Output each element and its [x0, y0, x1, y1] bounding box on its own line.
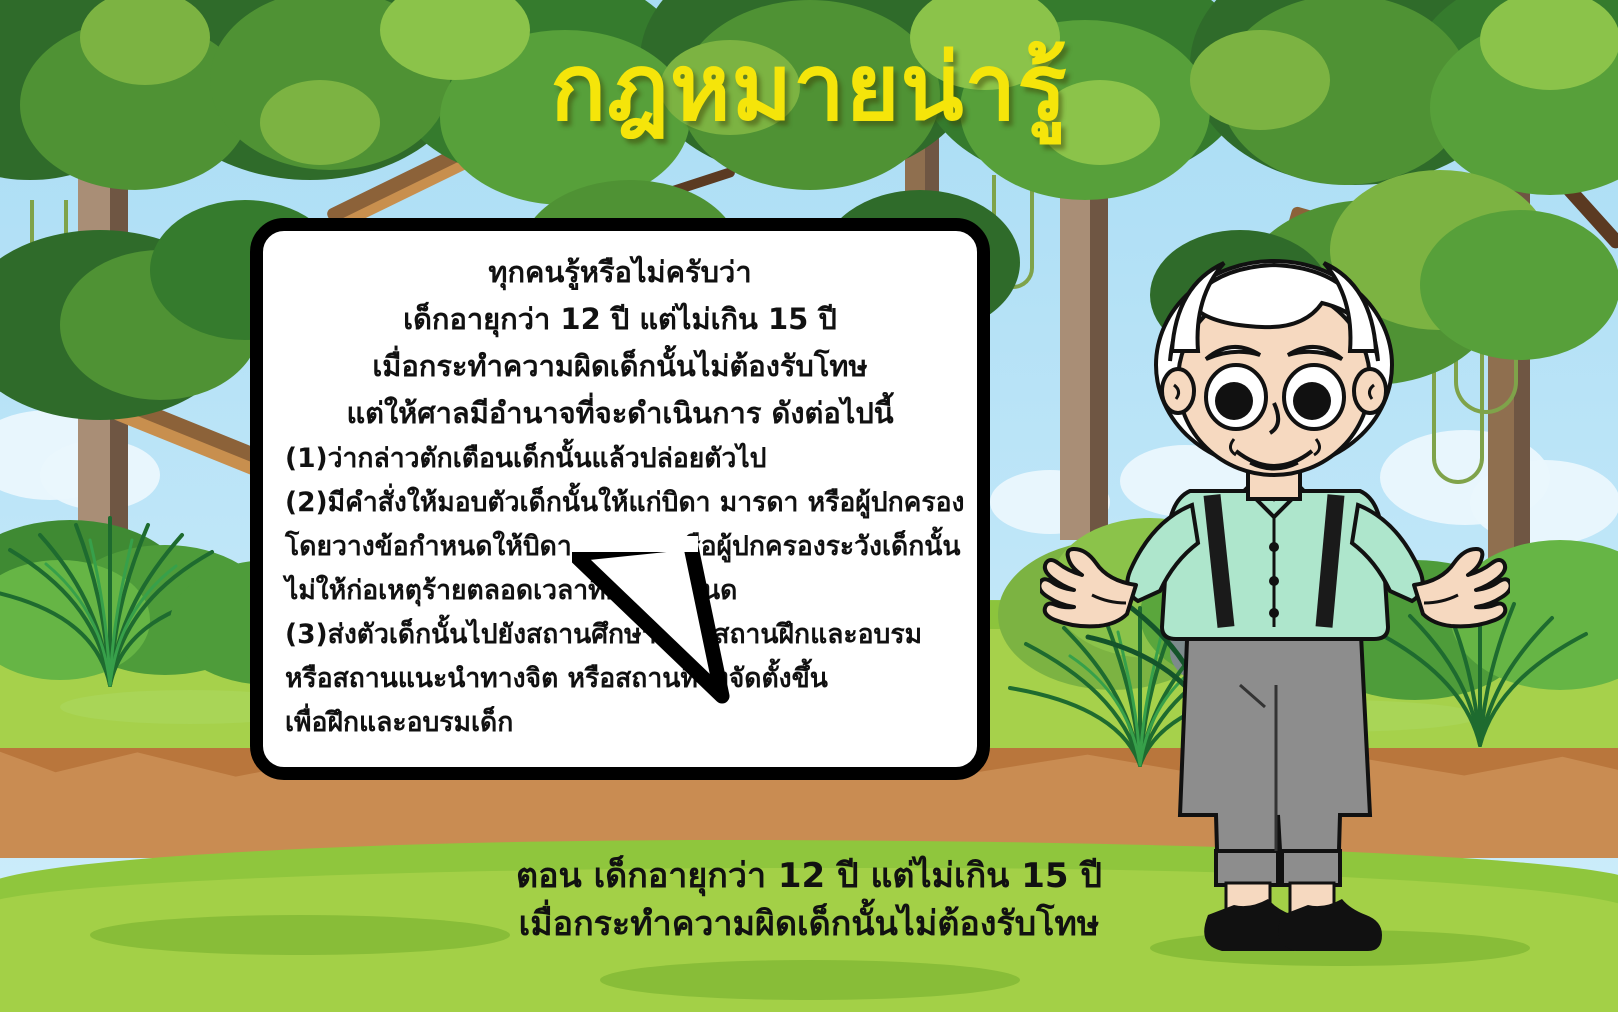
page-title: กฎหมายน่ารู้ — [0, 40, 1618, 137]
bubble-body-line: โดยวางข้อกำหนดให้บิดา มารดา หรือผู้ปกครอ… — [285, 525, 955, 569]
speech-bubble: ทุกคนรู้หรือไม่ครับว่า เด็กอายุกว่า 12 ป… — [250, 218, 990, 780]
bubble-body-line: หรือสถานแนะนำทางจิต หรือสถานที่ซึ่งจัดตั… — [285, 657, 955, 701]
bubble-body-line: ไม่ให้ก่อเหตุร้ายตลอดเวลาที่ศาลกำหนด — [285, 569, 955, 613]
caption-line: เมื่อกระทำความผิดเด็กนั้นไม่ต้องรับโทษ — [0, 900, 1618, 948]
bubble-centered-line: เมื่อกระทำความผิดเด็กนั้นไม่ต้องรับโทษ — [285, 343, 955, 390]
caption-line: ตอน เด็กอายุกว่า 12 ปี แต่ไม่เกิน 15 ปี — [0, 852, 1618, 900]
caption-block: ตอน เด็กอายุกว่า 12 ปี แต่ไม่เกิน 15 ปี … — [0, 852, 1618, 949]
bubble-body-line: เพื่อฝึกและอบรมเด็ก — [285, 701, 955, 745]
bubble-centered-line: ทุกคนรู้หรือไม่ครับว่า — [285, 249, 955, 296]
bubble-body-line: (1)ว่ากล่าวตักเตือนเด็กนั้นแล้วปล่อยตัวไ… — [285, 437, 955, 481]
bubble-centered-line: เด็กอายุกว่า 12 ปี แต่ไม่เกิน 15 ปี — [285, 296, 955, 343]
bubble-body-line: (3)ส่งตัวเด็กนั้นไปยังสถานศึกษา หรือสถาน… — [285, 613, 955, 657]
bubble-body-line: (2)มีคำสั่งให้มอบตัวเด็กนั้นให้แก่บิดา ม… — [285, 481, 955, 525]
speech-bubble-body: ทุกคนรู้หรือไม่ครับว่า เด็กอายุกว่า 12 ป… — [250, 218, 990, 780]
poster-canvas: กฎหมายน่ารู้ — [0, 0, 1618, 1012]
grass-detail — [600, 960, 1020, 1000]
bubble-centered-line: แต่ให้ศาลมีอำนาจที่จะดำเนินการ ดังต่อไปน… — [285, 390, 955, 437]
